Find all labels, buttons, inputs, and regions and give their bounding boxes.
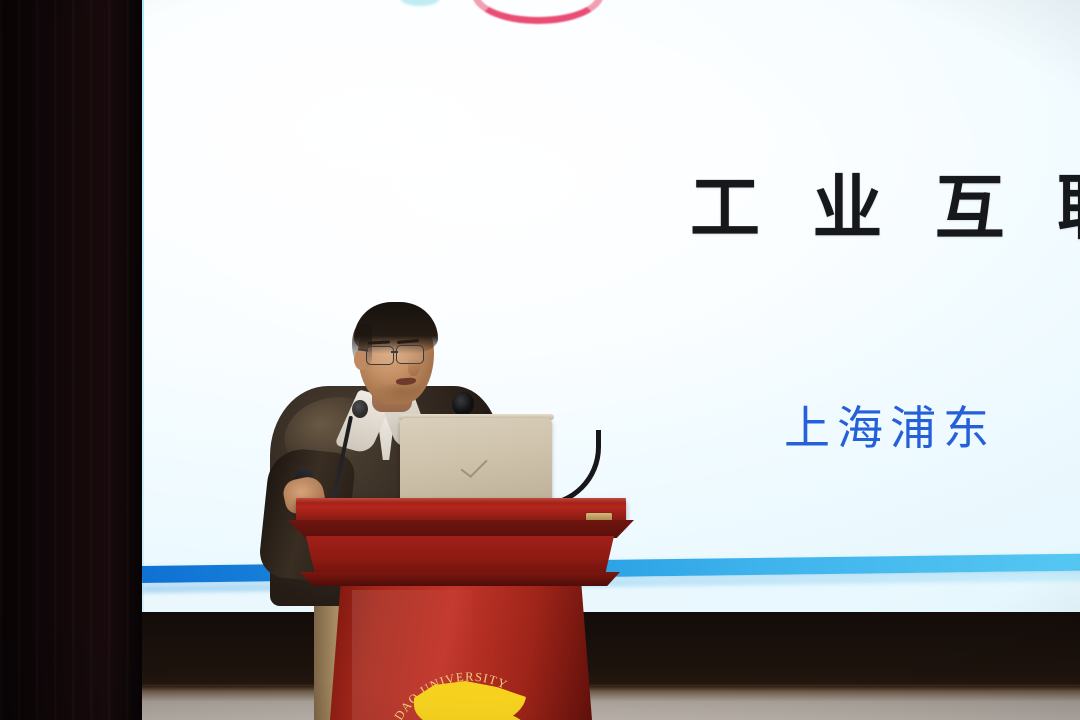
podium-shelf bbox=[300, 572, 620, 586]
podium-emblem: QINGDAO UNIVERSITY bbox=[376, 628, 556, 720]
speaker-chin-shadow bbox=[374, 384, 426, 402]
eyeglasses-bridge bbox=[391, 351, 398, 353]
eyeglasses-lens-left bbox=[366, 346, 394, 365]
slide-logo-strip: Dare to Innovate bbox=[142, 0, 1080, 28]
teal-swoosh-icon bbox=[400, 0, 440, 6]
pink-ring-logo-icon bbox=[472, 0, 604, 24]
slide-subtitle: 上海浦东 bbox=[784, 392, 996, 458]
stage-curtain-left bbox=[0, 0, 142, 720]
speaker-nose bbox=[408, 358, 420, 376]
microphone-head-left bbox=[352, 400, 368, 418]
presentation-photo: Dare to Innovate 工 业 互 联 上海浦东 bbox=[0, 0, 1080, 720]
microphone-head-right bbox=[452, 392, 474, 416]
podium-body bbox=[306, 536, 614, 576]
slide-title: 工 业 互 联 bbox=[690, 152, 1080, 253]
podium-lip bbox=[288, 520, 634, 538]
